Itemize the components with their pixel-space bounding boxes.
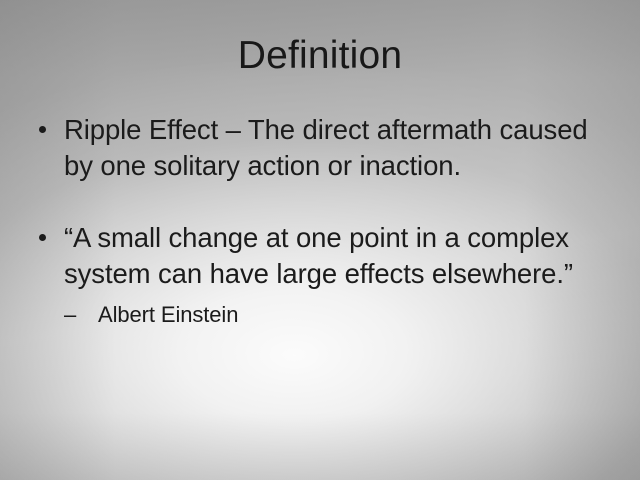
paragraph-spacer bbox=[30, 184, 610, 220]
bullet-dot-icon bbox=[39, 234, 46, 241]
en-dash-icon: – bbox=[64, 300, 76, 330]
bullet-dot-icon bbox=[39, 126, 46, 133]
slide-content: Definition Ripple Effect – The direct af… bbox=[0, 0, 640, 480]
list-item-text: “A small change at one point in a comple… bbox=[64, 220, 610, 292]
attribution-text: Albert Einstein bbox=[98, 302, 238, 327]
list-item: “A small change at one point in a comple… bbox=[30, 220, 610, 292]
list-item-sub: – Albert Einstein bbox=[64, 300, 610, 330]
list-item-text: Ripple Effect – The direct aftermath cau… bbox=[64, 112, 610, 184]
page-title: Definition bbox=[0, 33, 640, 79]
presentation-slide: Definition Ripple Effect – The direct af… bbox=[0, 0, 640, 480]
slide-body: Ripple Effect – The direct aftermath cau… bbox=[30, 112, 610, 330]
list-item: Ripple Effect – The direct aftermath cau… bbox=[30, 112, 610, 184]
